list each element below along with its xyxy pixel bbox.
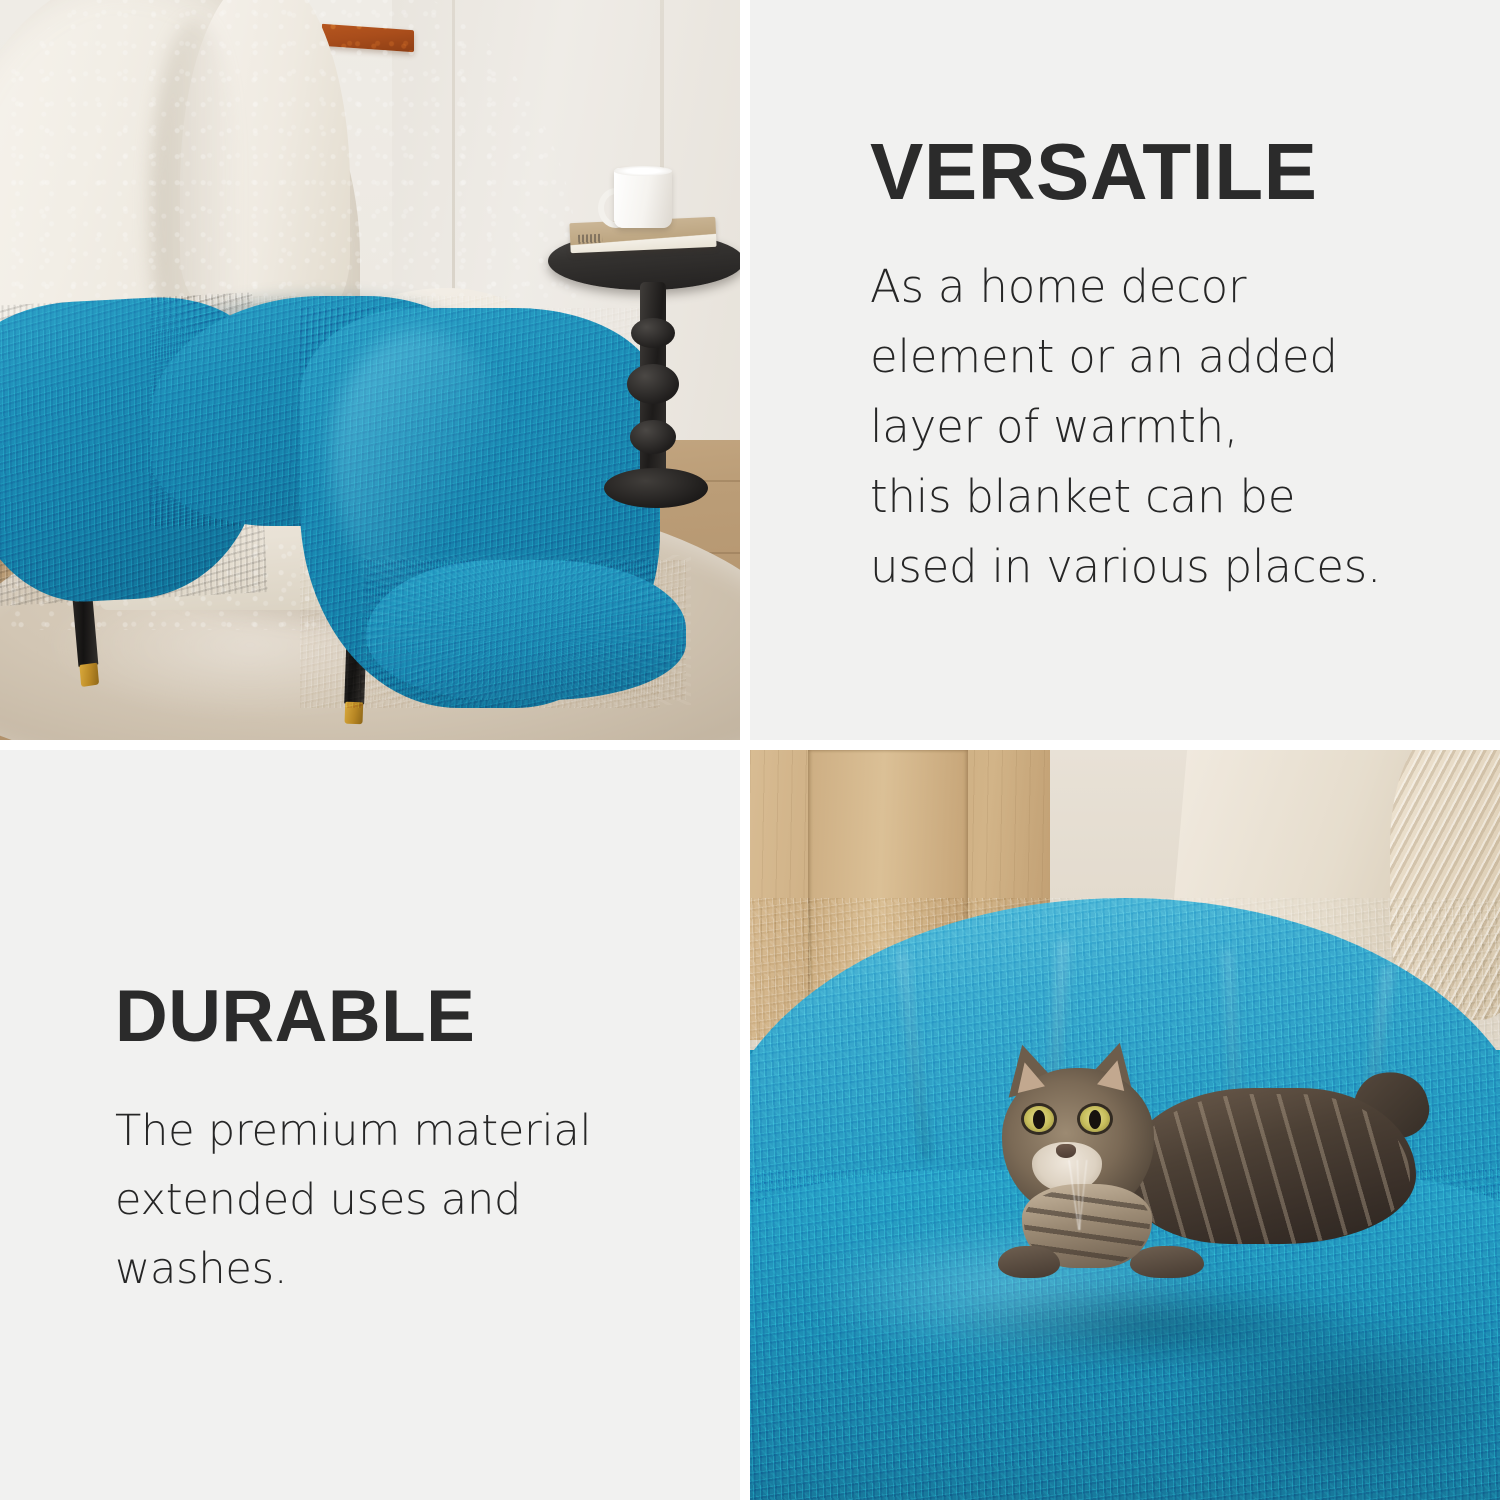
versatile-body-line-2: element or an added — [870, 322, 1440, 392]
side-table-knob-lower — [630, 420, 676, 454]
infographic-sheet: VERSATILE As a home decor element or an … — [0, 0, 1500, 1500]
gutter-vertical-top — [740, 0, 750, 740]
photo-cat-scene — [750, 750, 1500, 1500]
versatile-body-line-5: used in various places. — [870, 532, 1440, 602]
side-table-knob-middle — [627, 364, 679, 404]
durable-heading: DURABLE — [115, 980, 700, 1053]
cat-paw-right — [1130, 1246, 1204, 1278]
versatile-body-line-4: this blanket can be — [870, 462, 1440, 532]
versatile-body: As a home decor element or an added laye… — [870, 252, 1440, 602]
durable-body: The premium material extended uses and w… — [115, 1097, 700, 1304]
blanket-highlight — [330, 330, 510, 590]
cat-pupil-right — [1089, 1110, 1101, 1129]
versatile-body-line-3: layer of warmth, — [870, 392, 1440, 462]
gutter-corner-right — [750, 740, 1500, 750]
versatile-body-line-1: As a home decor — [870, 252, 1440, 322]
side-table-base — [604, 468, 708, 508]
book-spine-text — [578, 234, 602, 244]
panel-versatile: VERSATILE As a home decor element or an … — [750, 0, 1500, 740]
ceramic-mug — [614, 168, 672, 228]
gutter-vertical-bottom — [740, 750, 750, 1500]
photo-chair-scene — [0, 0, 740, 740]
versatile-heading: VERSATILE — [870, 132, 1440, 212]
gutter-corner-left — [0, 740, 740, 750]
cat-paw-left — [998, 1246, 1060, 1278]
cat-nose — [1056, 1144, 1076, 1158]
chair-scene-image — [0, 0, 740, 740]
cat-pupil-left — [1033, 1110, 1045, 1129]
cat-whiskers — [972, 1160, 1192, 1230]
tabby-cat — [980, 1050, 1420, 1350]
side-table-knob-upper — [631, 318, 675, 348]
mug-rim — [614, 166, 672, 176]
durable-body-line-3: washes. — [115, 1235, 700, 1304]
gutter-center — [740, 740, 750, 750]
panel-durable: DURABLE The premium material extended us… — [0, 750, 740, 1500]
durable-body-line-2: extended uses and — [115, 1166, 700, 1235]
durable-body-line-1: The premium material — [115, 1097, 700, 1166]
cat-scene-image — [750, 750, 1500, 1500]
